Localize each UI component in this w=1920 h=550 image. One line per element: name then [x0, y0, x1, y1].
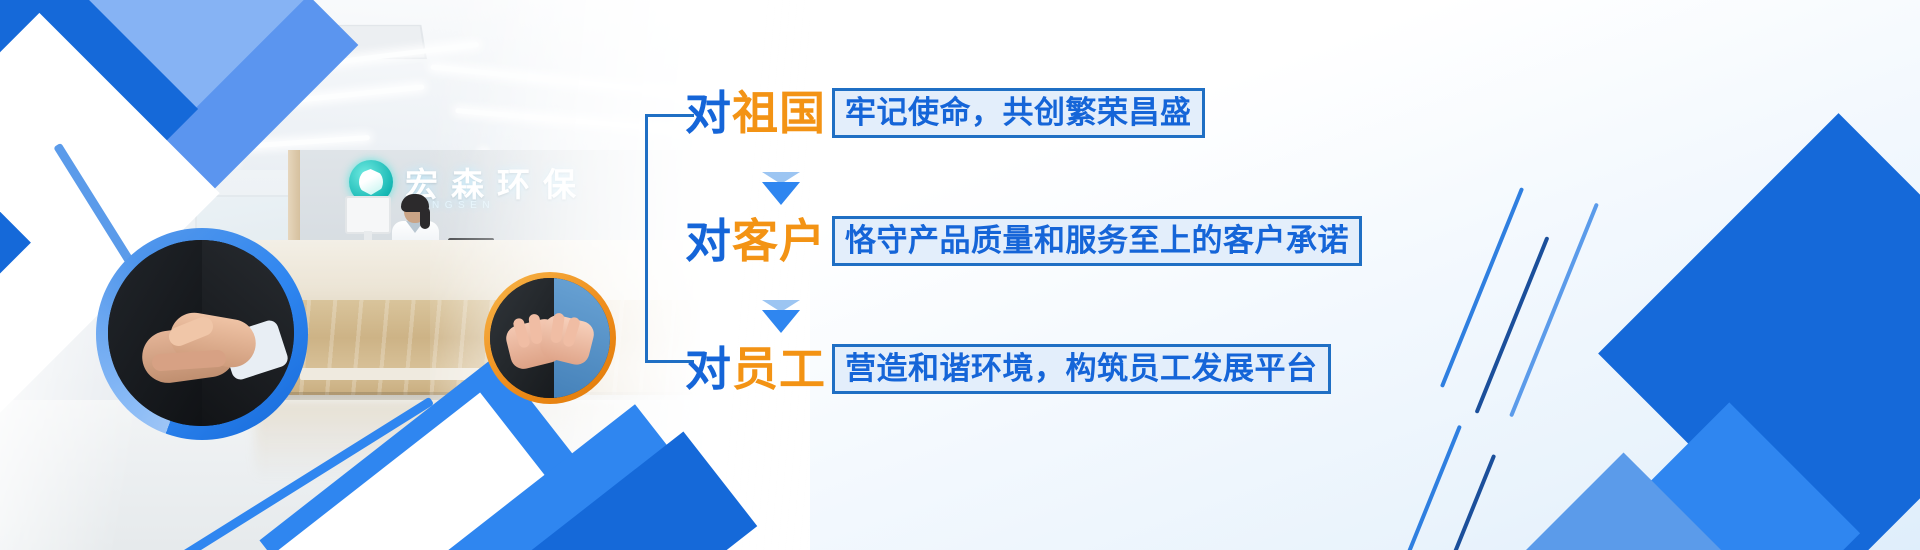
value-label-employee: 对员工: [685, 346, 826, 392]
corporate-values-banner: 宏森环保 HONGSEN: [0, 0, 1920, 550]
applause-photo: [490, 278, 610, 398]
value-statement-nation: 牢记使命，共创繁荣昌盛: [832, 88, 1205, 138]
value-label-key: 客户: [732, 215, 826, 267]
value-row-nation: 对祖国 牢记使命，共创繁荣昌盛: [685, 88, 1205, 138]
arrow-down-icon: [762, 310, 800, 333]
value-row-employee: 对员工 营造和谐环境，构筑员工发展平台: [685, 344, 1331, 394]
value-row-customer: 对客户 恪守产品质量和服务至上的客户承诺: [685, 216, 1362, 266]
value-label-key: 祖国: [732, 87, 826, 139]
value-label-key: 员工: [732, 343, 826, 395]
decor-thin-line: [1402, 425, 1462, 550]
arrow-down-icon: [762, 182, 800, 205]
value-label-customer: 对客户: [685, 218, 826, 264]
decor-thin-line: [1444, 454, 1496, 550]
value-label-prefix: 对: [685, 343, 732, 395]
value-statement-customer: 恪守产品质量和服务至上的客户承诺: [832, 216, 1362, 266]
receptionist-hair: [420, 207, 430, 229]
value-statement-employee: 营造和谐环境，构筑员工发展平台: [832, 344, 1331, 394]
value-label-prefix: 对: [685, 87, 732, 139]
values-list: 对祖国 牢记使命，共创繁荣昌盛 对客户 恪守产品质量和服务至上的客户承诺 对员工…: [645, 72, 1765, 392]
desk-monitor: [345, 196, 391, 234]
value-label-nation: 对祖国: [685, 90, 826, 136]
handshake-photo: [108, 240, 294, 426]
value-label-prefix: 对: [685, 215, 732, 267]
